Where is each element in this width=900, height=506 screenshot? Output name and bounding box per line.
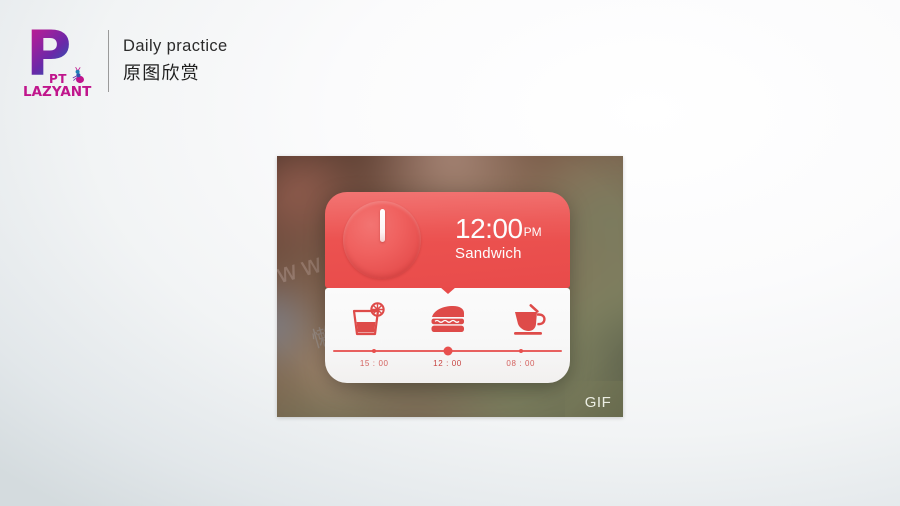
card-notch-pointer	[440, 287, 456, 294]
timeline-dot-3[interactable]	[519, 349, 523, 353]
time-value: 12:00	[455, 214, 523, 244]
coffee-icon[interactable]	[509, 299, 549, 339]
ant-icon	[71, 66, 87, 84]
header-divider	[108, 30, 109, 92]
drink-icon[interactable]	[346, 299, 386, 339]
slide-header: P PT LAZYANT Daily practice 原图欣赏	[20, 20, 320, 102]
gif-badge-label: GIF	[585, 394, 612, 411]
image-preview: www.ppt设计师 懒蚂蚁设计 12:00PM Sandwich	[277, 156, 623, 417]
lazyant-logo: P PT LAZYANT	[20, 22, 98, 100]
timeline-label-1: 15 : 00	[360, 359, 389, 368]
slide-canvas: P PT LAZYANT Daily practice 原图欣赏 www.ppt…	[0, 0, 900, 506]
gif-badge: GIF	[565, 381, 623, 417]
meal-alarm-card[interactable]: 12:00PM Sandwich	[325, 192, 570, 383]
timeline-label-2: 12 : 00	[433, 359, 462, 368]
page-title-en: Daily practice	[123, 37, 228, 56]
timeline-dot-2-active[interactable]	[443, 347, 452, 356]
header-titles: Daily practice 原图欣赏	[123, 37, 228, 85]
time-display: 12:00PM Sandwich	[455, 214, 542, 263]
timeline-dot-1[interactable]	[372, 349, 376, 353]
logo-wordmark: LAZYANT	[23, 84, 91, 100]
time-meridiem: PM	[524, 225, 542, 239]
sandwich-icon[interactable]	[427, 299, 467, 339]
card-top-panel: 12:00PM Sandwich	[325, 192, 570, 288]
meal-label: Sandwich	[455, 245, 542, 263]
meal-timeline[interactable]: 15 : 00 12 : 00 08 : 00	[333, 350, 562, 352]
dial-needle[interactable]	[380, 209, 385, 242]
meal-icon-row	[325, 294, 570, 344]
timeline-label-3: 08 : 00	[506, 359, 535, 368]
page-title-cn: 原图欣赏	[123, 59, 228, 85]
card-bottom-panel: 15 : 00 12 : 00 08 : 00	[325, 288, 570, 383]
time-dial[interactable]	[343, 201, 421, 279]
